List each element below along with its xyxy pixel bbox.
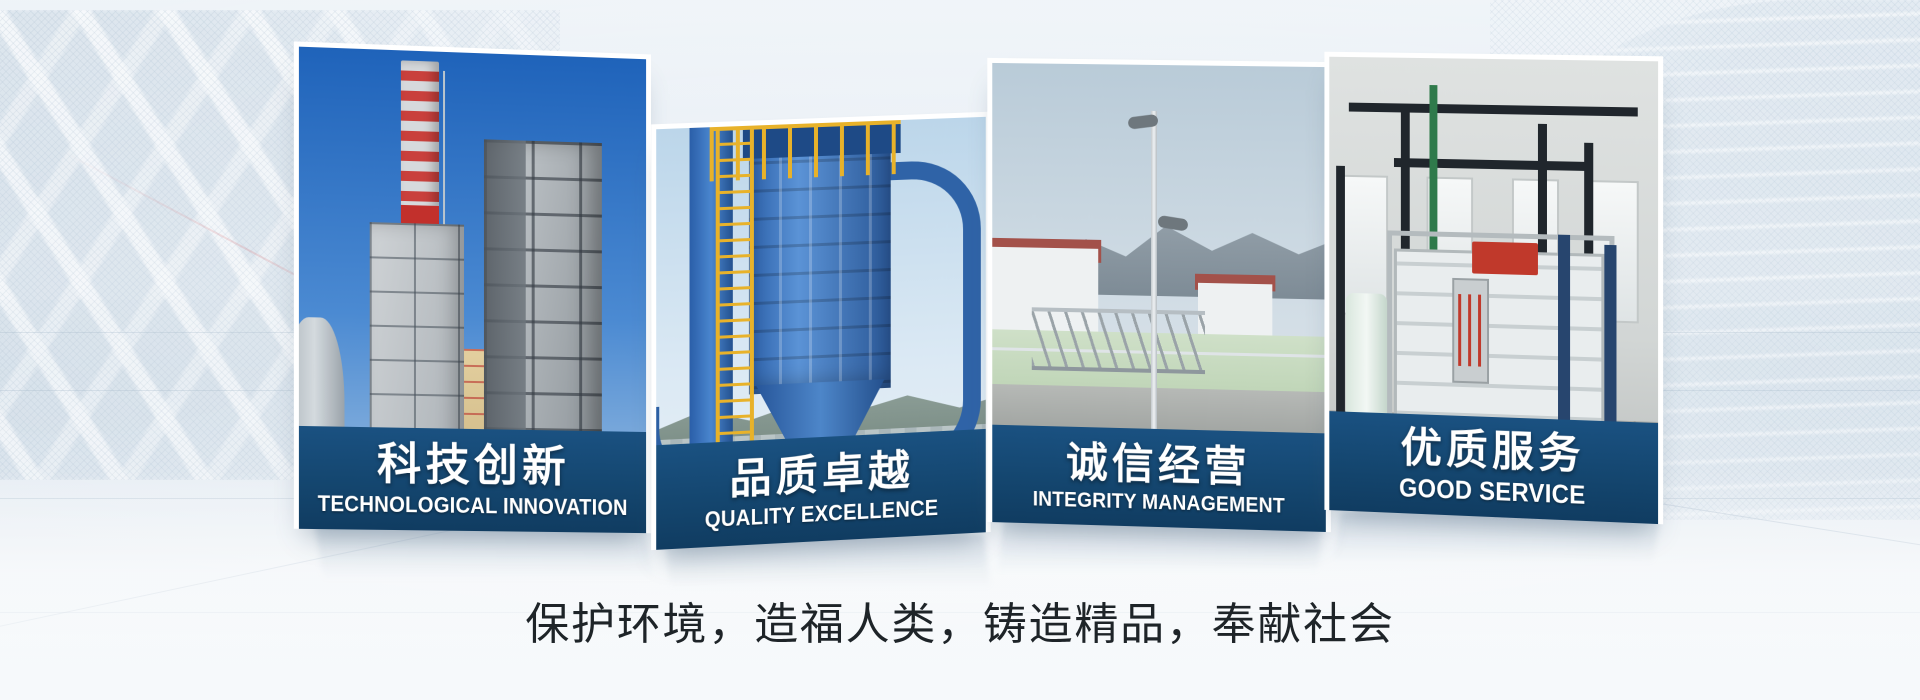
card-inner: 科技创新 TECHNOLOGICAL INNOVATION: [299, 47, 646, 533]
card-title-en: GOOD SERVICE: [1399, 474, 1585, 508]
banner-tagline: 保护环境，造福人类，铸造精品，奉献社会: [0, 588, 1920, 652]
card-title-en: INTEGRITY MANAGEMENT: [1032, 488, 1284, 516]
card-title-cn: 诚信经营: [1066, 441, 1251, 488]
feature-card-integrity-management[interactable]: 诚信经营 INTEGRITY MANAGEMENT: [987, 58, 1331, 532]
card-title-cn: 品质卓越: [729, 449, 914, 500]
feature-card-technological-innovation[interactable]: 科技创新 TECHNOLOGICAL INNOVATION: [294, 41, 651, 533]
feature-card-quality-excellence[interactable]: 品质卓越 QUALITY EXCELLENCE: [651, 112, 991, 550]
card-title-en: TECHNOLOGICAL INNOVATION: [318, 492, 628, 518]
card-caption-bar: 品质卓越 QUALITY EXCELLENCE: [656, 429, 986, 550]
card-inner: 优质服务 GOOD SERVICE: [1329, 57, 1658, 524]
card-caption-bar: 诚信经营 INTEGRITY MANAGEMENT: [992, 425, 1326, 532]
card-title-cn: 科技创新: [377, 442, 570, 489]
card-caption-bar: 科技创新 TECHNOLOGICAL INNOVATION: [299, 426, 646, 533]
card-inner: 品质卓越 QUALITY EXCELLENCE: [656, 117, 986, 550]
hero-banner: 科技创新 TECHNOLOGICAL INNOVATION: [0, 0, 1920, 700]
card-title-cn: 优质服务: [1400, 427, 1584, 476]
card-caption-bar: 优质服务 GOOD SERVICE: [1329, 411, 1658, 524]
card-inner: 诚信经营 INTEGRITY MANAGEMENT: [992, 63, 1326, 532]
feature-card-good-service[interactable]: 优质服务 GOOD SERVICE: [1324, 52, 1663, 525]
